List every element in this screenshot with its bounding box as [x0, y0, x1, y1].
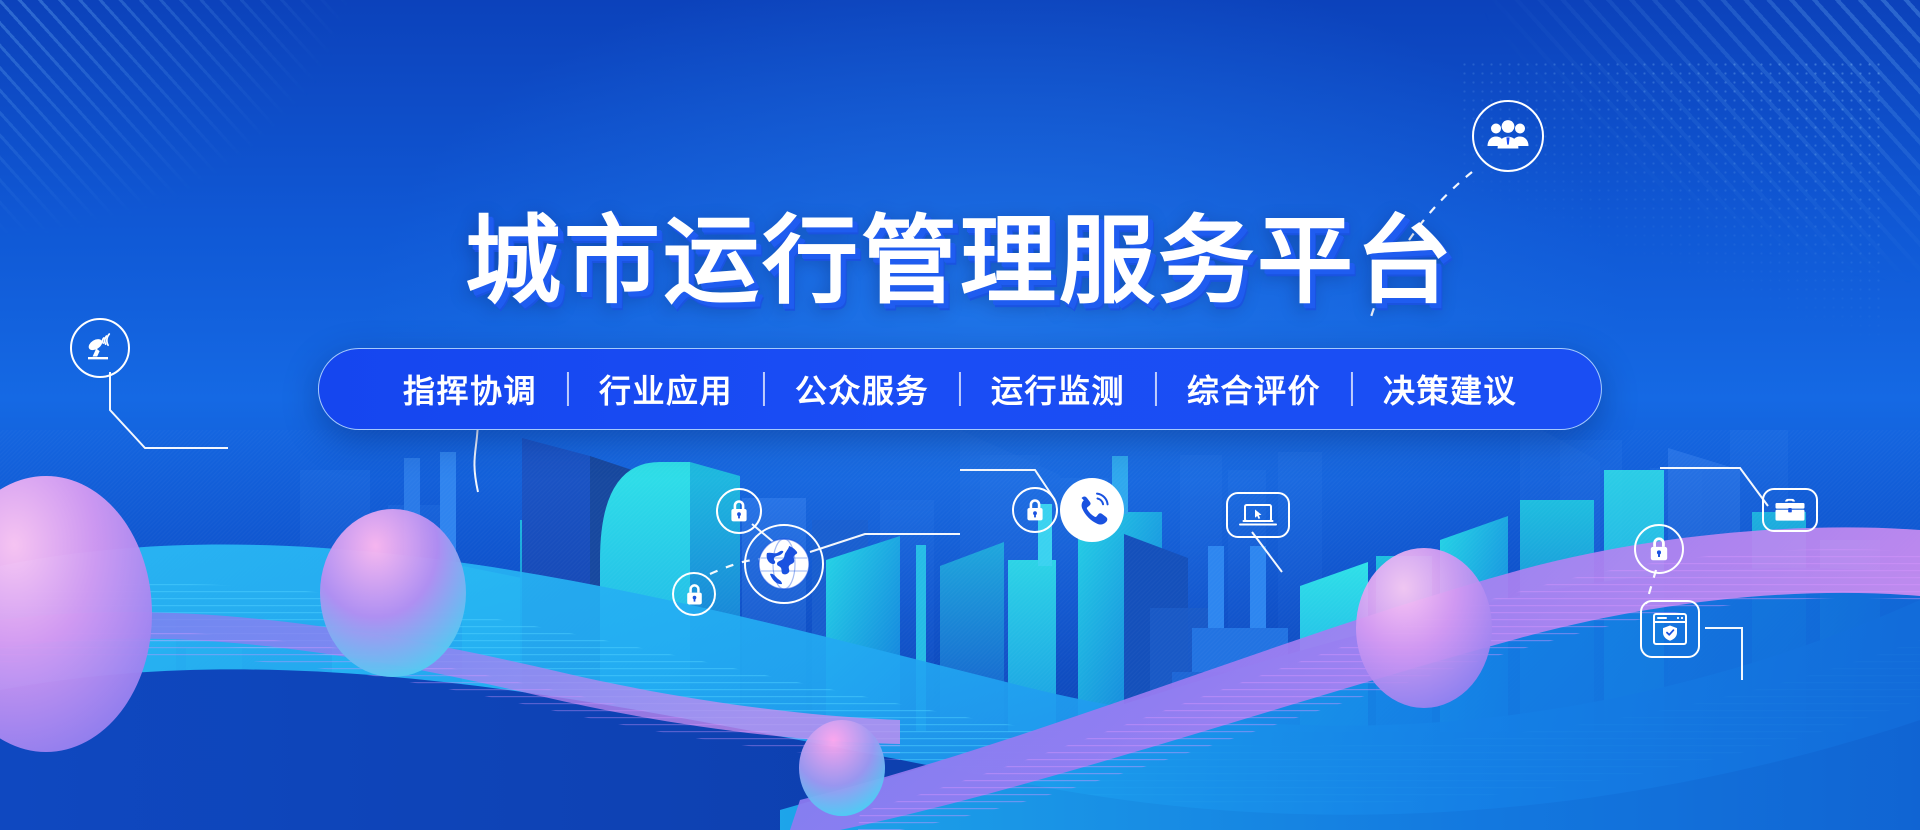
nav-item-industry-application[interactable]: 行业应用 — [569, 366, 763, 412]
nav-item-operation-monitoring[interactable]: 运行监测 — [961, 366, 1155, 412]
nav-item-decision-suggestion[interactable]: 决策建议 — [1353, 366, 1547, 412]
nav-item-command-coordination[interactable]: 指挥协调 — [373, 366, 567, 412]
briefcase-icon — [1762, 488, 1818, 532]
page-title: 城市运行管理服务平台 — [465, 212, 1455, 313]
phone-call-icon — [1060, 478, 1124, 542]
lock-icon — [1634, 524, 1684, 574]
lock-icon — [716, 488, 762, 534]
globe-icon — [744, 524, 824, 604]
lock-icon — [672, 572, 716, 616]
browser-shield-icon — [1640, 600, 1700, 658]
banner-stage: 城市运行管理服务平台 指挥协调 行业应用 公众服务 运行监测 综合评价 决策建议 — [0, 0, 1920, 830]
nav-item-comprehensive-evaluation[interactable]: 综合评价 — [1157, 366, 1351, 412]
nav-item-public-service[interactable]: 公众服务 — [765, 366, 959, 412]
lock-icon — [1012, 487, 1058, 533]
page-title-wrapper: 城市运行管理服务平台 — [0, 148, 1920, 377]
laptop-cursor-icon — [1226, 492, 1290, 538]
primary-nav-bar[interactable]: 指挥协调 行业应用 公众服务 运行监测 综合评价 决策建议 — [318, 348, 1602, 430]
